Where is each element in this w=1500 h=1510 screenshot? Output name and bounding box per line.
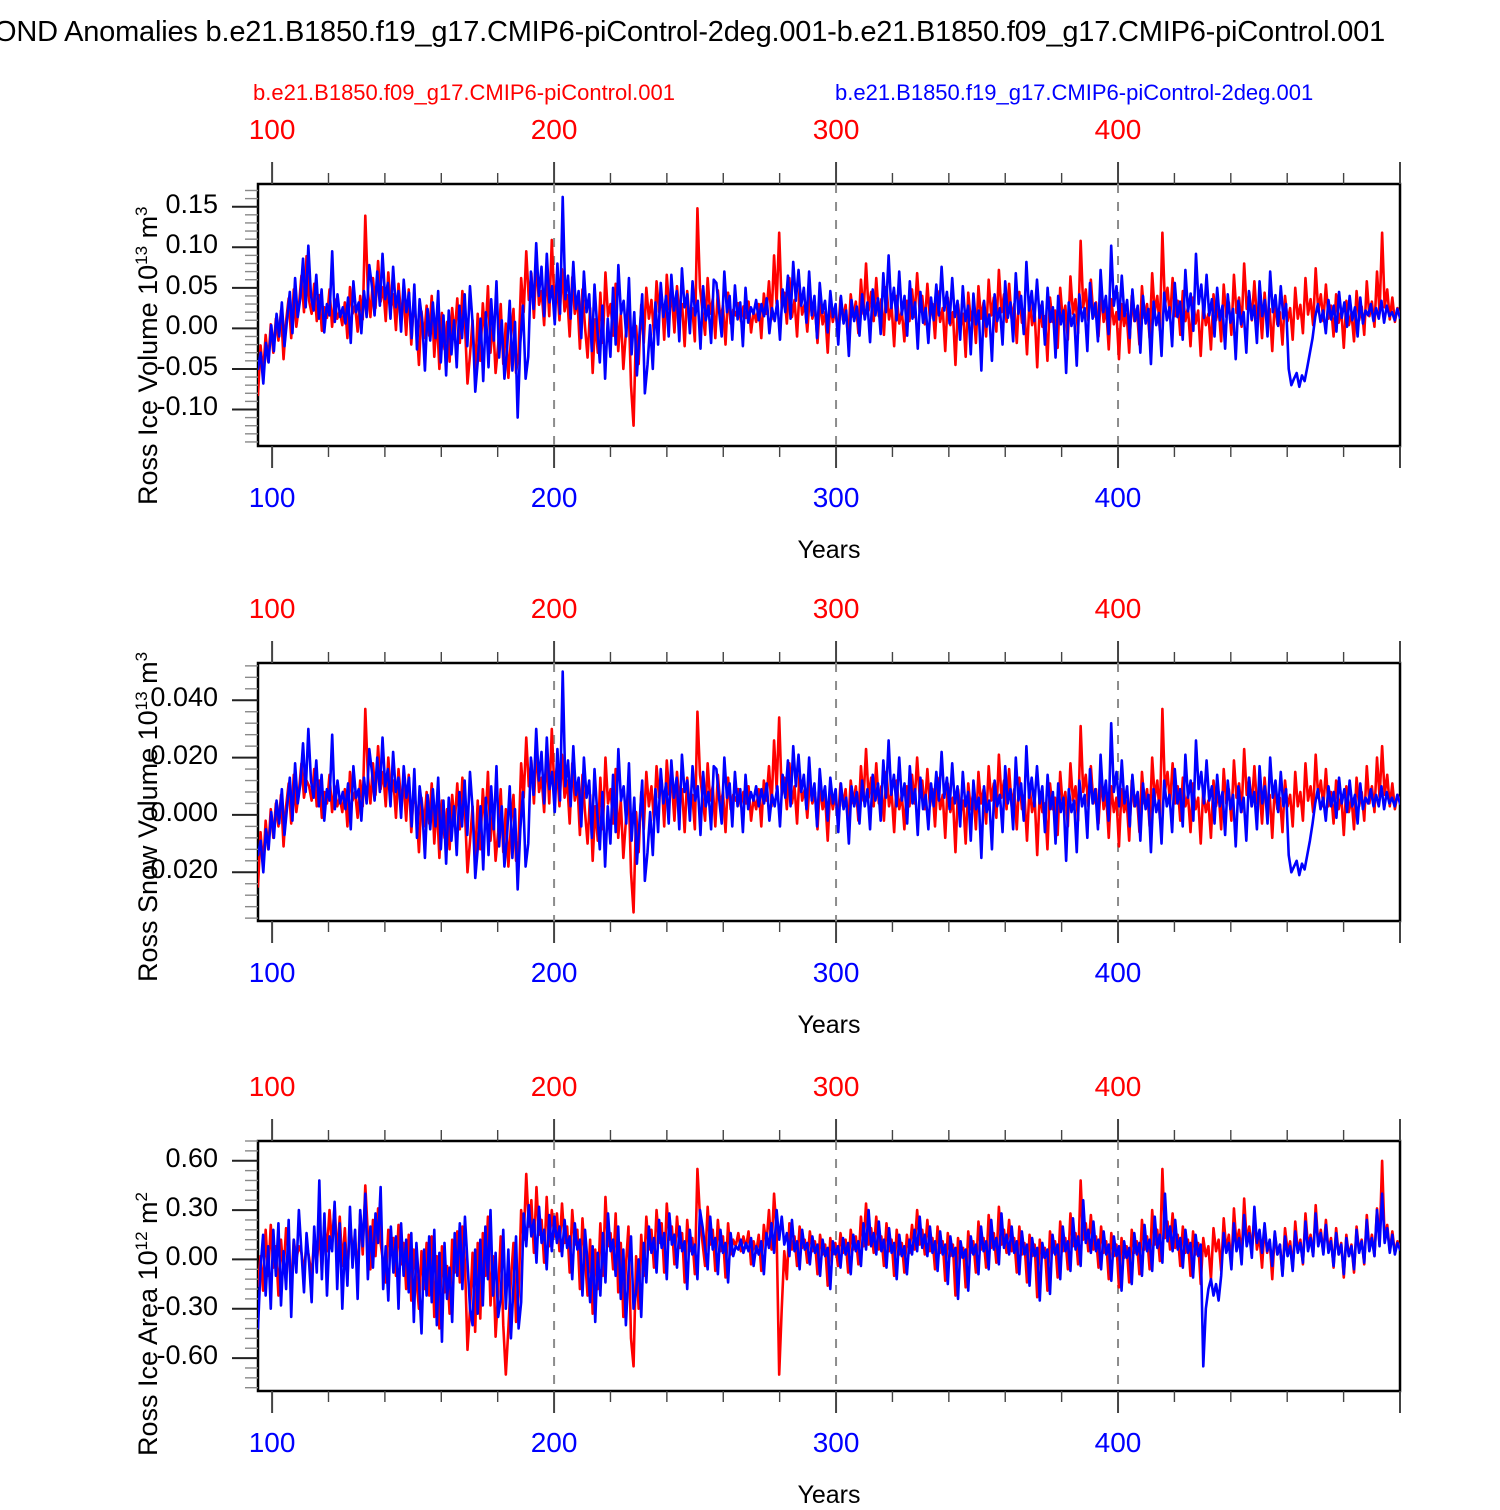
xaxis-title: Years <box>158 1011 1500 1040</box>
xaxis-title: Years <box>158 1481 1500 1510</box>
legend-entry-blue: b.e21.B1850.f19_g17.CMIP6-piControl-2deg… <box>835 80 1313 106</box>
plot-area-panel-1 <box>0 114 1500 516</box>
legend-entry-red: b.e21.B1850.f09_g17.CMIP6-piControl.001 <box>253 80 675 106</box>
page-title: OND Anomalies b.e21.B1850.f19_g17.CMIP6-… <box>0 16 1500 49</box>
xaxis-title: Years <box>158 536 1500 565</box>
plot-area-panel-3 <box>0 1071 1500 1461</box>
plot-area-panel-2 <box>0 593 1500 991</box>
